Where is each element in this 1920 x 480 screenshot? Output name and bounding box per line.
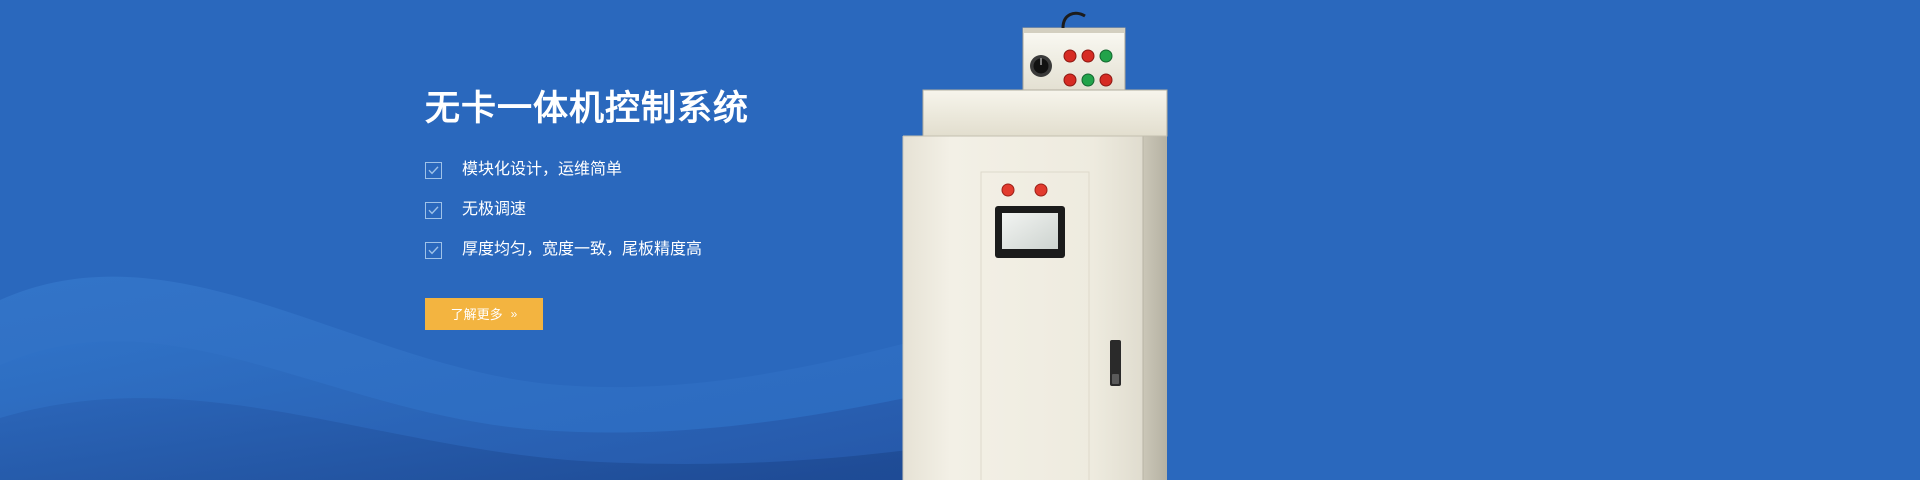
hmi-touchscreen xyxy=(995,206,1065,258)
hero-banner: 无卡一体机控制系统 模块化设计，运维简单 无极调速 xyxy=(0,0,1920,480)
hero-content: 无卡一体机控制系统 模块化设计，运维简单 无极调速 xyxy=(425,88,945,330)
feature-label: 厚度均匀，宽度一致，尾板精度高 xyxy=(462,242,702,258)
green-button-1 xyxy=(1100,50,1112,62)
red-button-1 xyxy=(1064,50,1076,62)
double-chevron-right-icon: » xyxy=(511,308,518,320)
indicator-light-right xyxy=(1035,184,1047,196)
top-control-panel xyxy=(1023,13,1125,90)
list-item: 厚度均匀，宽度一致，尾板精度高 xyxy=(425,236,945,264)
red-button-3 xyxy=(1064,74,1076,86)
red-button-4 xyxy=(1100,74,1112,86)
checkbox-check-icon xyxy=(425,242,442,259)
feature-list: 模块化设计，运维简单 无极调速 厚度均匀，宽度一致，尾板精度高 xyxy=(425,156,945,264)
learn-more-label: 了解更多 xyxy=(451,308,503,321)
rotary-selector-knob xyxy=(1030,55,1052,77)
red-button-2 xyxy=(1082,50,1094,62)
checkbox-check-icon xyxy=(425,202,442,219)
list-item: 无极调速 xyxy=(425,196,945,224)
indicator-light-left xyxy=(1002,184,1014,196)
feature-label: 无极调速 xyxy=(462,202,526,218)
feature-label: 模块化设计，运维简单 xyxy=(462,162,622,178)
page-title: 无卡一体机控制系统 xyxy=(425,88,945,130)
green-button-2 xyxy=(1082,74,1094,86)
checkbox-check-icon xyxy=(425,162,442,179)
list-item: 模块化设计，运维简单 xyxy=(425,156,945,184)
learn-more-button[interactable]: 了解更多 » xyxy=(425,298,543,330)
